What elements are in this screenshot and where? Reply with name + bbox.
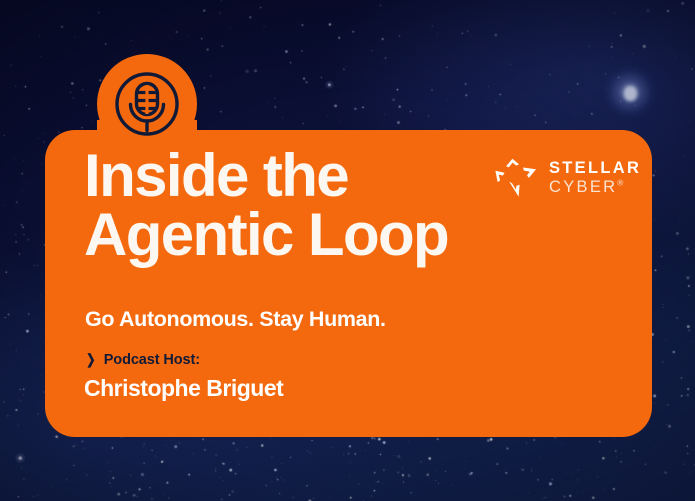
microphone-icon [114,71,180,137]
registered-trademark-icon: ® [617,178,623,187]
podcast-promo-graphic: Inside the Agentic Loop Go Autonomous. S… [0,0,695,501]
chevron-right-icon: ❯ [86,352,95,366]
tagline: Go Autonomous. Stay Human. [85,307,386,332]
podcast-host-label: Podcast Host: [104,352,200,368]
stellar-cyber-star-mark-icon [492,154,540,202]
podcast-host-name: Christophe Briguet [84,375,283,402]
logo-wordmark: STELLAR CYBER® [549,160,641,196]
stellar-cyber-logo: STELLAR CYBER® [492,152,637,204]
logo-line-cyber: CYBER® [549,179,641,196]
logo-line-stellar: STELLAR [549,160,641,177]
podcast-host-label-row: ❯ Podcast Host: [85,352,200,368]
logo-cyber-text: CYBER [549,178,617,196]
